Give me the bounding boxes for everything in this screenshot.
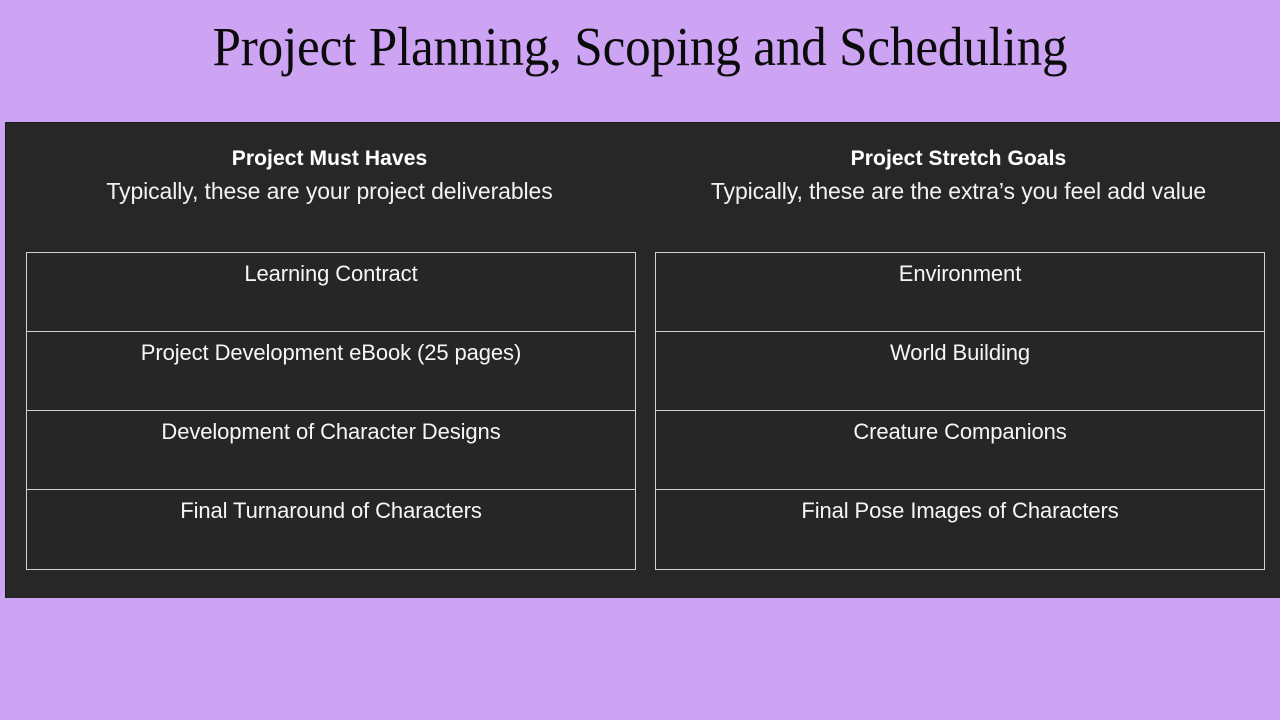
table-row[interactable]: Learning Contract [27, 253, 635, 332]
content-panel: Project Must Haves Typically, these are … [5, 122, 1280, 598]
column-heading-must-haves: Project Must Haves [21, 146, 638, 172]
column-project-stretch-goals: Project Stretch Goals Typically, these a… [651, 122, 1266, 206]
column-subheading-must-haves: Typically, these are your project delive… [21, 176, 638, 206]
table-row[interactable]: Final Pose Images of Characters [656, 490, 1264, 569]
column-subheading-stretch-goals: Typically, these are the extra’s you fee… [651, 176, 1266, 206]
list-item: Environment [656, 260, 1264, 288]
table-stretch-goals: Environment World Building Creature Comp… [655, 252, 1265, 570]
table-row[interactable]: Development of Character Designs [27, 411, 635, 490]
table-row[interactable]: Creature Companions [656, 411, 1264, 490]
list-item: Final Pose Images of Characters [656, 497, 1264, 525]
list-item: Development of Character Designs [27, 418, 635, 446]
list-item: Project Development eBook (25 pages) [27, 339, 635, 367]
list-item: Creature Companions [656, 418, 1264, 446]
slide: Project Planning, Scoping and Scheduling… [0, 0, 1280, 720]
column-project-must-haves: Project Must Haves Typically, these are … [21, 122, 638, 206]
table-row[interactable]: Final Turnaround of Characters [27, 490, 635, 569]
table-row[interactable]: World Building [656, 332, 1264, 411]
list-item: World Building [656, 339, 1264, 367]
column-heading-stretch-goals: Project Stretch Goals [651, 146, 1266, 172]
page-title: Project Planning, Scoping and Scheduling [45, 14, 1235, 80]
list-item: Final Turnaround of Characters [27, 497, 635, 525]
table-row[interactable]: Project Development eBook (25 pages) [27, 332, 635, 411]
table-row[interactable]: Environment [656, 253, 1264, 332]
list-item: Learning Contract [27, 260, 635, 288]
table-must-haves: Learning Contract Project Development eB… [26, 252, 636, 570]
